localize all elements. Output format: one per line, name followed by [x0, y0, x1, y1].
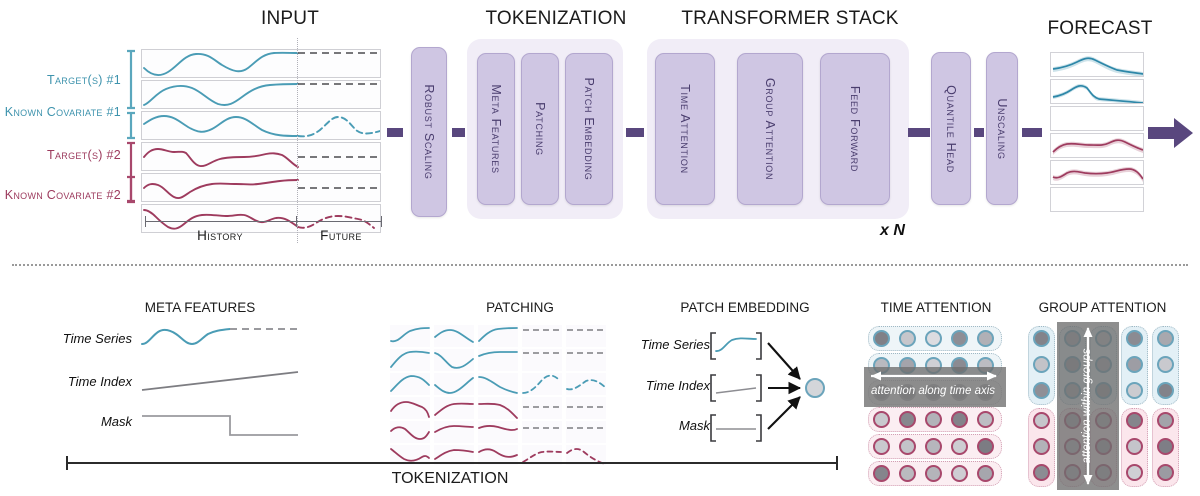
pipeline-block-patch-embedding[interactable]: Patch Embedding — [565, 53, 613, 205]
pipeline-block-label: Robust Scaling — [422, 84, 436, 179]
detail-title-time-attention: TIME ATTENTION — [866, 300, 1006, 315]
attention-token — [873, 465, 890, 482]
series-curve-target2-a — [142, 143, 381, 171]
group-bracket-covariate-2 — [126, 176, 136, 203]
section-title-input: INPUT — [200, 8, 380, 30]
bracket-shape — [126, 176, 136, 203]
connector-transformer-to-quantile — [908, 128, 930, 137]
tokenization-axis-line — [66, 462, 838, 464]
tokenization-axis-label: TOKENIZATION — [300, 470, 600, 488]
forecast-curve-crim-b — [1051, 161, 1144, 185]
detail-title-meta-features: META FEATURES — [110, 300, 290, 315]
attention-token — [925, 411, 942, 428]
pipeline-block-label: Group Attention — [763, 78, 777, 180]
attention-token — [1157, 382, 1174, 399]
patching-cells — [390, 325, 608, 465]
series-row — [141, 173, 381, 202]
attention-token — [1126, 356, 1143, 373]
attention-token — [925, 330, 942, 347]
attention-token — [1157, 464, 1174, 481]
attention-token — [977, 438, 994, 455]
connector-tokenization-to-transformer — [626, 128, 644, 137]
meta-feature-plots — [140, 318, 300, 443]
attention-token — [951, 438, 968, 455]
meta-feature-curves — [140, 318, 300, 443]
output-arrow — [1148, 116, 1194, 150]
time-attention-overlay-label: attention along time axis — [871, 385, 995, 397]
section-title-tokenization: TOKENIZATION — [456, 8, 656, 30]
attention-token — [873, 330, 890, 347]
tokenization-axis-cap-right — [836, 456, 838, 470]
input-label-target-2: Target(s) #2 — [0, 148, 121, 162]
series-curve-covariate1 — [142, 112, 381, 140]
attention-token — [951, 330, 968, 347]
bracket-shape — [126, 112, 136, 139]
forecast-curve-teal-b — [1051, 80, 1144, 104]
series-row — [141, 142, 381, 171]
detail-title-group-attention: GROUP ATTENTION — [1025, 300, 1180, 315]
time-attention-overlay-arrow — [870, 370, 998, 382]
series-row — [141, 80, 381, 109]
attention-token — [873, 411, 890, 428]
group-bracket-covariate-1 — [126, 112, 136, 139]
history-future-axis-line — [145, 221, 382, 222]
meta-feature-label-time-series: Time Series — [40, 331, 132, 346]
attention-token — [899, 330, 916, 347]
detail-title-patch-embedding: PATCH EMBEDDING — [650, 300, 840, 315]
pipeline-block-label: Feed Forward — [848, 86, 862, 172]
group-bracket-target-1 — [126, 50, 136, 109]
forecast-row-empty — [1050, 187, 1144, 212]
attention-token — [1157, 330, 1174, 347]
bracket-shape — [126, 50, 136, 109]
patch-embedding-label-mask: Mask — [620, 418, 710, 433]
forecast-row — [1050, 79, 1144, 104]
attention-token — [1033, 330, 1050, 347]
architecture-diagram: INPUT TOKENIZATION TRANSFORMER STACK FOR… — [0, 0, 1200, 496]
patching-grid — [390, 325, 608, 465]
axis-label-future: Future — [298, 228, 384, 243]
input-series-panel — [141, 49, 381, 211]
attention-token — [1126, 330, 1143, 347]
attention-token — [925, 438, 942, 455]
pipeline-block-robust-scaling[interactable]: Robust Scaling — [411, 47, 447, 217]
input-label-covariate-2: Known Covariate #2 — [0, 188, 121, 202]
connector-scaling-to-tokenization — [452, 128, 465, 137]
history-future-divider — [297, 38, 298, 243]
attention-token — [1126, 382, 1143, 399]
attention-token — [1126, 438, 1143, 455]
input-label-covariate-1: Known Covariate #1 — [0, 105, 121, 119]
axis-tick-left — [145, 216, 146, 227]
pipeline-block-patching[interactable]: Patching — [521, 53, 559, 205]
axis-label-history: History — [150, 228, 290, 243]
pipeline-block-meta-features[interactable]: Meta Features — [477, 53, 515, 205]
attention-token — [951, 411, 968, 428]
meta-feature-label-time-index: Time Index — [40, 374, 132, 389]
pipeline-block-label: Patching — [533, 102, 547, 156]
repeat-count-label: x N — [880, 222, 905, 240]
attention-token — [1033, 356, 1050, 373]
forecast-curve-teal-a — [1051, 53, 1144, 77]
attention-token — [899, 411, 916, 428]
pipeline-block-label: Quantile Head — [944, 85, 958, 173]
pipeline-block-label: Time Attention — [678, 84, 692, 174]
pipeline-block-group-attention[interactable]: Group Attention — [737, 53, 803, 205]
axis-tick-mid — [296, 216, 297, 227]
series-curve-target1-b — [142, 81, 381, 109]
pipeline-block-feed-forward[interactable]: Feed Forward — [820, 53, 890, 205]
attention-token — [1126, 464, 1143, 481]
forecast-row — [1050, 52, 1144, 77]
meta-feature-label-mask: Mask — [40, 414, 132, 429]
attention-token — [977, 411, 994, 428]
pipeline-block-label: Patch Embedding — [582, 78, 596, 181]
forecast-row — [1050, 160, 1144, 185]
double-arrow-horizontal-icon — [870, 370, 998, 382]
group-attention-grid: attention within groups — [1028, 326, 1178, 486]
pipeline-block-time-attention[interactable]: Time Attention — [655, 53, 715, 205]
tokenization-axis-cap-left — [66, 456, 68, 470]
pipeline-block-unscaling[interactable]: Unscaling — [986, 52, 1018, 205]
section-title-forecast: FORECAST — [1020, 18, 1180, 40]
patch-embedding-label-time-series: Time Series — [620, 337, 710, 352]
pipeline-block-label: Unscaling — [995, 98, 1009, 159]
attention-token — [977, 330, 994, 347]
series-row — [141, 49, 381, 78]
attention-token — [1033, 464, 1050, 481]
attention-token — [1157, 438, 1174, 455]
pipeline-block-quantile-head[interactable]: Quantile Head — [931, 52, 971, 205]
patch-embedding-label-time-index: Time Index — [620, 378, 710, 393]
attention-token — [899, 438, 916, 455]
detail-title-patching: PATCHING — [445, 300, 595, 315]
group-attention-overlay-label: attention within groups — [1081, 336, 1093, 476]
forecast-panel — [1050, 52, 1144, 205]
section-title-transformer: TRANSFORMER STACK — [660, 8, 920, 30]
pipeline-block-label: Meta Features — [489, 84, 503, 173]
patch-embedding-token-circle — [805, 378, 825, 398]
arrow-right-icon — [1148, 116, 1194, 150]
attention-token — [899, 465, 916, 482]
series-curve-target1-a — [142, 50, 381, 78]
time-attention-grid: attention along time axis — [868, 326, 1002, 486]
connector-quantile-to-unscaling — [974, 128, 984, 137]
series-curve-target2-b — [142, 174, 381, 202]
attention-token — [1126, 412, 1143, 429]
attention-token — [1033, 382, 1050, 399]
attention-token — [1157, 356, 1174, 373]
series-row — [141, 111, 381, 140]
attention-token — [951, 465, 968, 482]
attention-token — [1033, 412, 1050, 429]
attention-token — [873, 438, 890, 455]
attention-token — [1033, 438, 1050, 455]
connector-unscaling-to-forecast — [1022, 128, 1042, 137]
panel-divider — [12, 264, 1188, 266]
attention-token — [925, 465, 942, 482]
forecast-row — [1050, 133, 1144, 158]
forecast-curve-crim-a — [1051, 134, 1144, 158]
attention-token — [977, 465, 994, 482]
attention-token — [1157, 412, 1174, 429]
forecast-row-empty — [1050, 106, 1144, 131]
input-label-target-1: Target(s) #1 — [0, 73, 121, 87]
axis-tick-right — [381, 216, 382, 227]
connector-input-to-scaling — [387, 128, 403, 137]
